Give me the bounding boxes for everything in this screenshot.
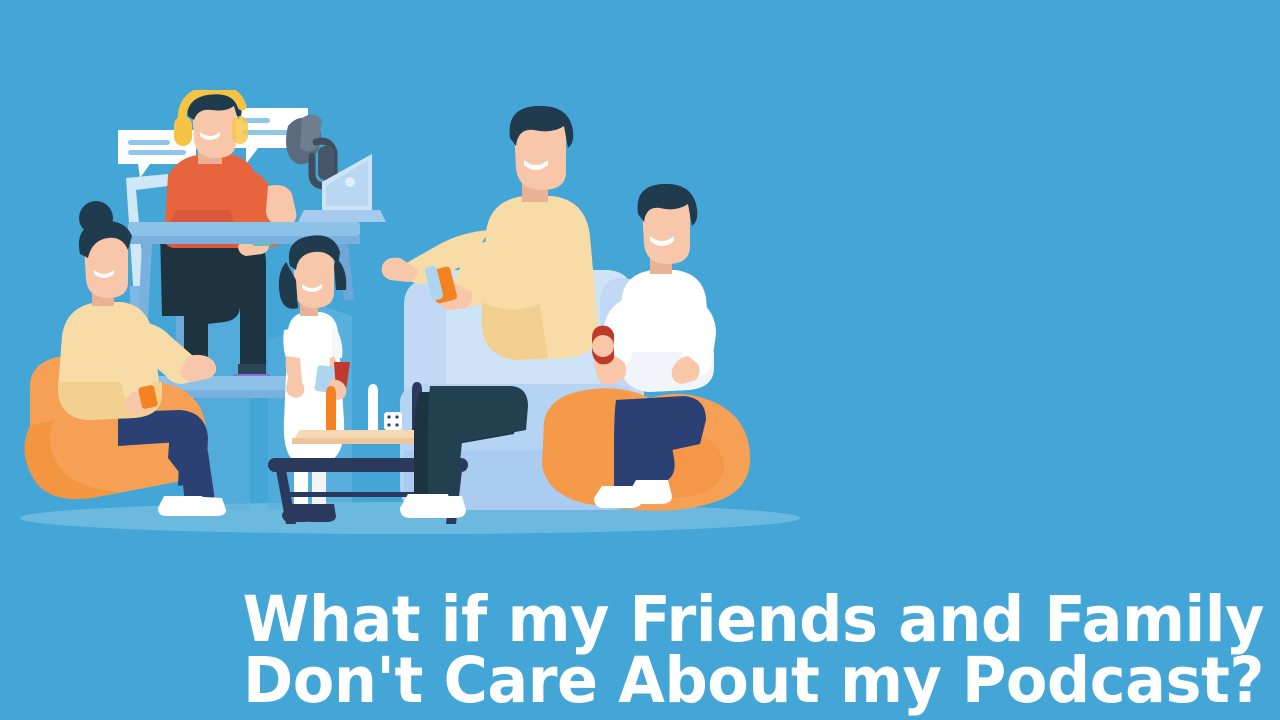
die-1: [384, 412, 402, 430]
illustration-svg: [0, 90, 820, 550]
microphone: [286, 114, 334, 186]
title-line-1: What if my Friends and Family: [51, 589, 1264, 651]
game-piece-white: [368, 384, 378, 430]
family-podcast-illustration: [0, 90, 820, 550]
game-piece-orange: [326, 386, 336, 430]
title-line-2: Don't Care About my Podcast?: [51, 650, 1264, 712]
poster-canvas: What if my Friends and Family Don't Care…: [0, 0, 1280, 720]
page-title: What if my Friends and Family Don't Care…: [0, 589, 1264, 712]
